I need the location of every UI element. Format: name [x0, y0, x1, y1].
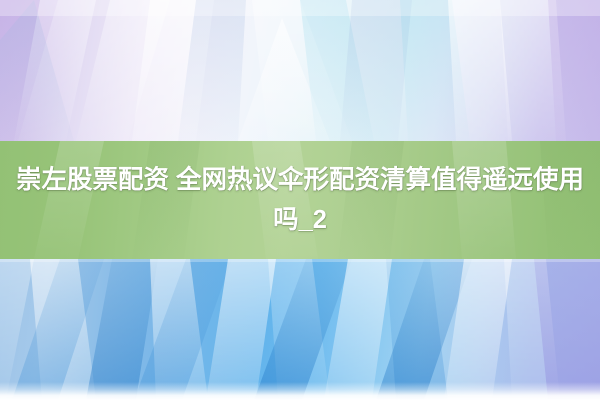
bottom-chevron-shapes	[0, 259, 600, 400]
top-facet-shapes	[0, 0, 600, 141]
banner-title-line-2: 吗_2	[273, 200, 327, 240]
banner-image: 崇左股票配资 全网热议伞形配资清算值得遥远使用 吗_2	[0, 0, 600, 400]
bottom-facet-band	[0, 259, 600, 400]
top-facet-band	[0, 0, 600, 141]
green-title-band: 崇左股票配资 全网热议伞形配资清算值得遥远使用 吗_2	[0, 141, 600, 259]
banner-title-line-1: 崇左股票配资 全网热议伞形配资清算值得遥远使用	[16, 160, 584, 200]
banner-title-block: 崇左股票配资 全网热议伞形配资清算值得遥远使用 吗_2	[0, 141, 600, 259]
